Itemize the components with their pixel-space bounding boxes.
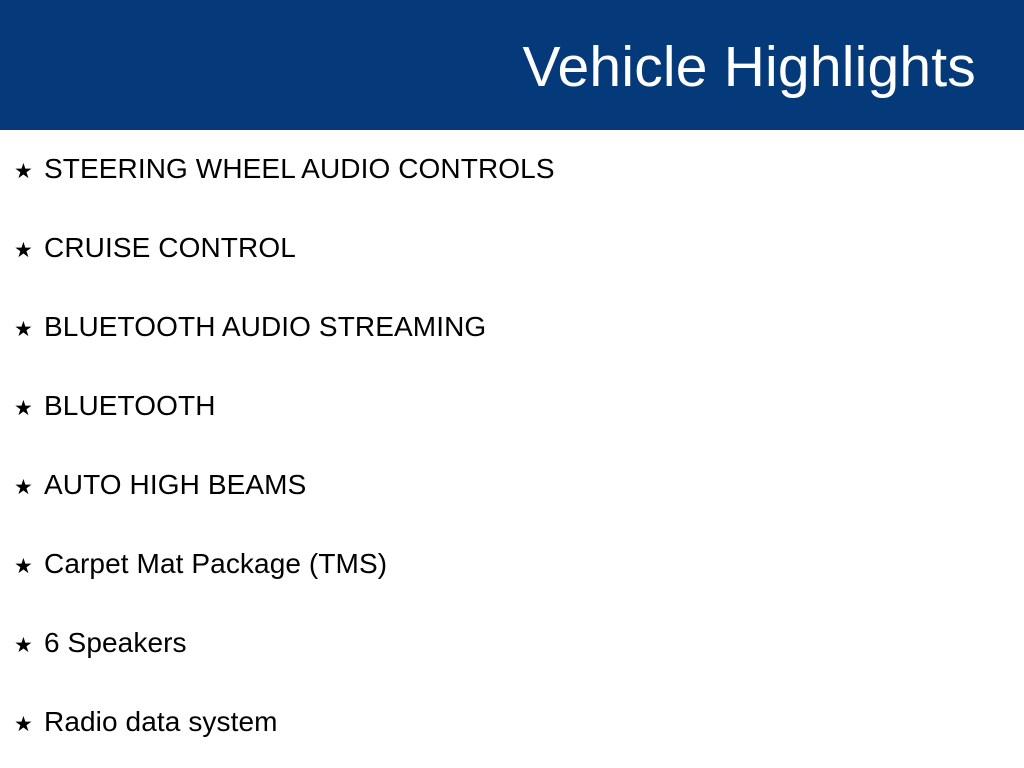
- list-item-label: STEERING WHEEL AUDIO CONTROLS: [44, 155, 555, 183]
- list-item-label: AUTO HIGH BEAMS: [44, 471, 306, 499]
- list-item: ★ Carpet Mat Package (TMS): [14, 550, 387, 584]
- list-item: ★ 6 Speakers: [14, 629, 187, 663]
- page-title: Vehicle Highlights: [522, 39, 976, 96]
- list-item-label: CRUISE CONTROL: [44, 234, 296, 262]
- slide-header-band: Vehicle Highlights: [0, 0, 1024, 130]
- list-item-label: 6 Speakers: [44, 629, 187, 657]
- list-item: ★ CRUISE CONTROL: [14, 234, 296, 268]
- star-bullet-icon: ★: [14, 240, 44, 261]
- star-bullet-icon: ★: [14, 714, 44, 735]
- star-bullet-icon: ★: [14, 398, 44, 419]
- star-bullet-icon: ★: [14, 161, 44, 182]
- list-item: ★ STEERING WHEEL AUDIO CONTROLS: [14, 155, 555, 189]
- star-bullet-icon: ★: [14, 556, 44, 577]
- list-item: ★ BLUETOOTH: [14, 392, 216, 426]
- list-item-label: BLUETOOTH: [44, 392, 216, 420]
- star-bullet-icon: ★: [14, 477, 44, 498]
- list-item-label: Radio data system: [44, 708, 278, 736]
- list-item-label: Carpet Mat Package (TMS): [44, 550, 387, 578]
- vehicle-highlights-slide: Vehicle Highlights ★ STEERING WHEEL AUDI…: [0, 0, 1024, 768]
- star-bullet-icon: ★: [14, 635, 44, 656]
- list-item: ★ AUTO HIGH BEAMS: [14, 471, 306, 505]
- vehicle-highlights-list: ★ STEERING WHEEL AUDIO CONTROLS ★ CRUISE…: [0, 130, 1024, 768]
- list-item: ★ BLUETOOTH AUDIO STREAMING: [14, 313, 486, 347]
- list-item-label: BLUETOOTH AUDIO STREAMING: [44, 313, 486, 341]
- star-bullet-icon: ★: [14, 319, 44, 340]
- list-item: ★ Radio data system: [14, 708, 278, 742]
